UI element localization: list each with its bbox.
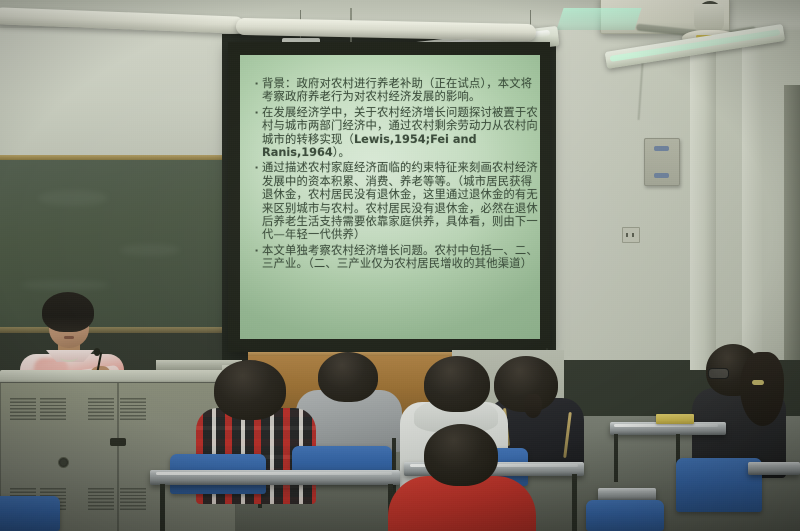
- bullet-point-icon: ▪: [251, 77, 262, 90]
- student-navy-ponytail: [524, 394, 542, 418]
- projection-screen-surface: ▪ 背景：政府对农村进行养老补助（正在试点），本文将考察政府养老行为对农村经济发…: [240, 55, 540, 339]
- slide-bullet-rural-growth: ▪ 本文单独考察农村经济增长问题。农村中包括一、二、三产业。（二、三产业仅为农村…: [251, 244, 538, 271]
- slide-bullet-development-economics: ▪ 在发展经济学中，关于农村经济增长问题探讨被置于农村与城市两部门经济中，通过农…: [251, 106, 538, 160]
- microphone: [94, 348, 100, 356]
- student-red-head: [424, 424, 498, 486]
- bullet-point-icon: ▪: [251, 244, 262, 257]
- podium-lock[interactable]: [58, 457, 69, 468]
- right-wall: [556, 30, 800, 360]
- presenter-mouth: [64, 336, 74, 339]
- podium-vent: [120, 488, 146, 510]
- slide-bullet-text: 在发展经济学中，关于农村经济增长问题探讨被置于农村与城市两部门经济中，通过农村剩…: [262, 106, 538, 160]
- podium-vent: [88, 398, 114, 420]
- presenter-hair: [42, 292, 94, 332]
- podium-vent: [40, 398, 66, 420]
- desk-highlight: [614, 424, 718, 427]
- desk-highlight: [156, 472, 392, 475]
- yellow-book: [656, 414, 694, 424]
- desk-leg: [160, 484, 165, 531]
- panel-switch-top[interactable]: [654, 146, 669, 151]
- wall-pillar-2: [742, 40, 762, 370]
- student-glasses-hairtie: [752, 380, 764, 385]
- student-glasses-hair: [740, 352, 784, 426]
- blue-chair-left-front[interactable]: [0, 496, 60, 531]
- podium-vent: [10, 398, 36, 420]
- student-glasses-eyewear: [708, 368, 729, 379]
- student-gray-head: [318, 352, 378, 402]
- ceiling-light-glow: [556, 8, 641, 30]
- left-upper-wall: [0, 28, 236, 158]
- student-white-head: [424, 356, 490, 412]
- podium-vent: [88, 488, 114, 510]
- presenter-necklace: [60, 352, 78, 362]
- projection-screen-frame: ▪ 背景：政府对农村进行养老补助（正在试点），本文将考察政府养老行为对农村经济发…: [228, 42, 550, 352]
- slide-bullet-text: 通过描述农村家庭经济面临的约束特征来刻画农村经济发展中的资本积累、消费、养老等等…: [262, 161, 538, 241]
- podium-latch[interactable]: [110, 438, 126, 446]
- desk-leg: [614, 434, 618, 482]
- ceiling-fan-mount: [694, 4, 724, 32]
- slide-bullet-text-tail: ）。: [333, 146, 350, 159]
- desk-leg: [572, 474, 577, 531]
- bullet-point-icon: ▪: [251, 161, 262, 174]
- wall-pillar-1: [690, 40, 716, 370]
- blue-chair-right-front[interactable]: [586, 500, 664, 531]
- slide-bullet-text: 背景：政府对农村进行养老补助（正在试点），本文将考察政府养老行为对农村经济发展的…: [262, 77, 538, 104]
- slide-bullet-household-constraints: ▪ 通过描述农村家庭经济面临的约束特征来刻画农村经济发展中的资本积累、消费、养老…: [251, 161, 538, 241]
- power-outlet[interactable]: [622, 227, 640, 243]
- student-plaid-head: [214, 360, 286, 420]
- bullet-point-icon: ▪: [251, 106, 262, 119]
- presentation-slide-content: ▪ 背景：政府对农村进行养老补助（正在试点），本文将考察政府养老行为对农村经济发…: [251, 77, 538, 273]
- wall-control-panel[interactable]: [644, 138, 680, 186]
- student-desk-far-right: [748, 462, 800, 475]
- slide-bullet-text: 本文单独考察农村经济增长问题。农村中包括一、二、三产业。（二、三产业仅为农村居民…: [262, 244, 538, 271]
- slide-bullet-background: ▪ 背景：政府对农村进行养老补助（正在试点），本文将考察政府养老行为对农村经济发…: [251, 77, 538, 104]
- podium-vent: [120, 398, 146, 420]
- panel-switch-bottom[interactable]: [654, 173, 669, 178]
- classroom-photo: ▪ 背景：政府对农村进行养老补助（正在试点），本文将考察政府养老行为对农村经济发…: [0, 0, 800, 531]
- door-frame: [784, 85, 800, 360]
